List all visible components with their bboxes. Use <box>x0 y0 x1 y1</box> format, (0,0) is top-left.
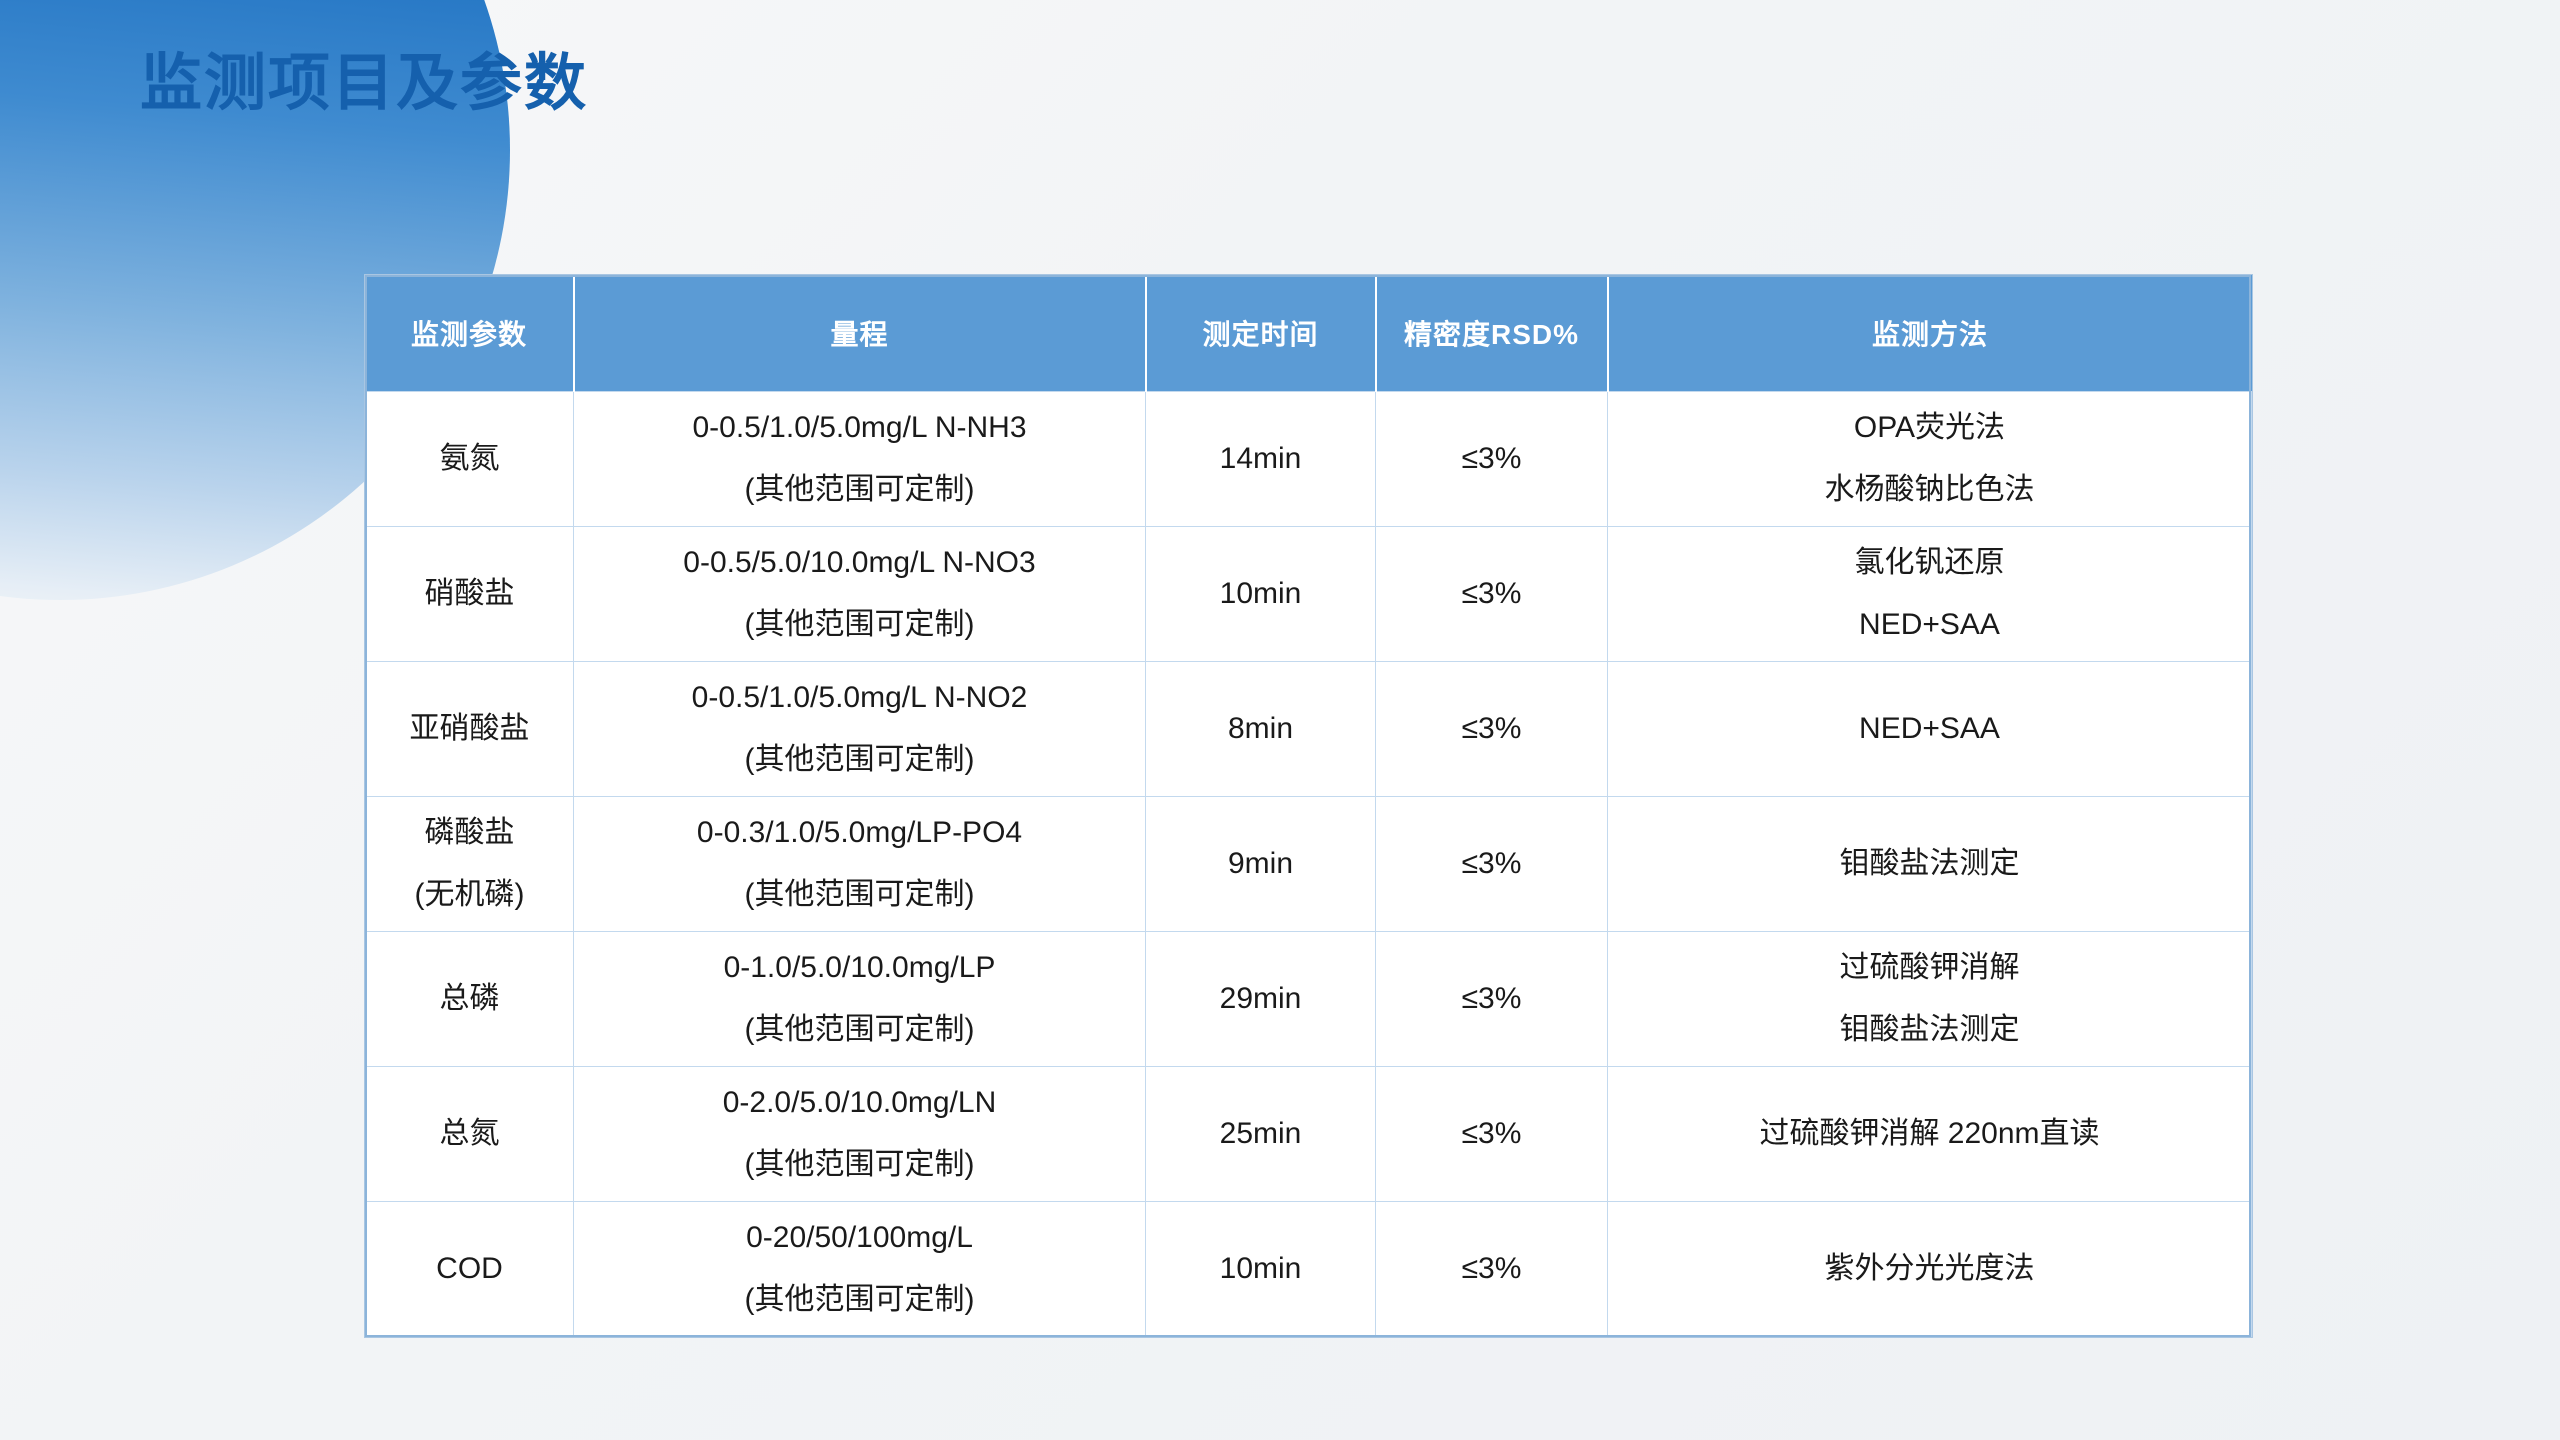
range-primary: 0-0.5/1.0/5.0mg/L N-NH3 <box>580 405 1139 452</box>
parameter-name: 总氮 <box>372 1111 567 1158</box>
cell-parameter: 总氮 <box>366 1067 574 1202</box>
table-row: 磷酸盐 (无机磷) 0-0.3/1.0/5.0mg/LP-PO4 (其他范围可定… <box>366 797 2252 932</box>
table-row: 亚硝酸盐 0-0.5/1.0/5.0mg/L N-NO2 (其他范围可定制) 8… <box>366 662 2252 797</box>
column-header-parameter: 监测参数 <box>366 275 574 392</box>
table-row: 总氮 0-2.0/5.0/10.0mg/LN (其他范围可定制) 25min ≤… <box>366 1067 2252 1202</box>
parameter-subname: (无机磷) <box>372 872 567 919</box>
cell-measure-time: 10min <box>1146 527 1376 662</box>
range-primary: 0-2.0/5.0/10.0mg/LN <box>580 1080 1139 1127</box>
monitoring-parameters-table-container: 监测参数 量程 测定时间 精密度RSD% 监测方法 氨氮 0-0.5/1.0/5… <box>365 275 2251 1337</box>
range-note: (其他范围可定制) <box>580 872 1139 919</box>
column-header-time: 测定时间 <box>1146 275 1376 392</box>
method-primary: 氯化钒还原 <box>1614 540 2245 587</box>
table-header: 监测参数 量程 测定时间 精密度RSD% 监测方法 <box>366 275 2252 392</box>
parameter-name: 总磷 <box>372 976 567 1023</box>
method-secondary: NED+SAA <box>1614 602 2245 649</box>
method-secondary: 水杨酸钠比色法 <box>1614 467 2245 514</box>
cell-method: 钼酸盐法测定 <box>1608 797 2252 932</box>
parameter-name: 亚硝酸盐 <box>372 706 567 753</box>
column-header-precision: 精密度RSD% <box>1376 275 1608 392</box>
cell-range: 0-20/50/100mg/L (其他范围可定制) <box>574 1202 1146 1337</box>
cell-parameter: COD <box>366 1202 574 1337</box>
method-primary: OPA荧光法 <box>1614 405 2245 452</box>
range-primary: 0-0.5/1.0/5.0mg/L N-NO2 <box>580 675 1139 722</box>
page-title: 监测项目及参数 <box>140 50 588 118</box>
cell-measure-time: 14min <box>1146 392 1376 527</box>
cell-measure-time: 8min <box>1146 662 1376 797</box>
range-note: (其他范围可定制) <box>580 737 1139 784</box>
monitoring-parameters-table: 监测参数 量程 测定时间 精密度RSD% 监测方法 氨氮 0-0.5/1.0/5… <box>365 275 2252 1337</box>
cell-parameter: 磷酸盐 (无机磷) <box>366 797 574 932</box>
table-row: 氨氮 0-0.5/1.0/5.0mg/L N-NH3 (其他范围可定制) 14m… <box>366 392 2252 527</box>
cell-precision-rsd: ≤3% <box>1376 1202 1608 1337</box>
parameter-name: 硝酸盐 <box>372 571 567 618</box>
range-note: (其他范围可定制) <box>580 467 1139 514</box>
cell-measure-time: 29min <box>1146 932 1376 1067</box>
range-note: (其他范围可定制) <box>580 1142 1139 1189</box>
cell-method: 过硫酸钾消解 220nm直读 <box>1608 1067 2252 1202</box>
method-primary: 过硫酸钾消解 <box>1614 945 2245 992</box>
method-primary: 钼酸盐法测定 <box>1614 841 2245 888</box>
cell-range: 0-0.3/1.0/5.0mg/LP-PO4 (其他范围可定制) <box>574 797 1146 932</box>
cell-precision-rsd: ≤3% <box>1376 662 1608 797</box>
column-header-method: 监测方法 <box>1608 275 2252 392</box>
cell-method: 过硫酸钾消解 钼酸盐法测定 <box>1608 932 2252 1067</box>
table-row: 硝酸盐 0-0.5/5.0/10.0mg/L N-NO3 (其他范围可定制) 1… <box>366 527 2252 662</box>
method-secondary: 钼酸盐法测定 <box>1614 1007 2245 1054</box>
cell-precision-rsd: ≤3% <box>1376 527 1608 662</box>
cell-method: OPA荧光法 水杨酸钠比色法 <box>1608 392 2252 527</box>
cell-range: 0-2.0/5.0/10.0mg/LN (其他范围可定制) <box>574 1067 1146 1202</box>
cell-parameter: 亚硝酸盐 <box>366 662 574 797</box>
range-note: (其他范围可定制) <box>580 1277 1139 1324</box>
cell-range: 0-0.5/1.0/5.0mg/L N-NO2 (其他范围可定制) <box>574 662 1146 797</box>
cell-precision-rsd: ≤3% <box>1376 392 1608 527</box>
table-row: 总磷 0-1.0/5.0/10.0mg/LP (其他范围可定制) 29min ≤… <box>366 932 2252 1067</box>
cell-measure-time: 10min <box>1146 1202 1376 1337</box>
cell-precision-rsd: ≤3% <box>1376 1067 1608 1202</box>
parameter-name: 氨氮 <box>372 436 567 483</box>
cell-measure-time: 9min <box>1146 797 1376 932</box>
table-body: 氨氮 0-0.5/1.0/5.0mg/L N-NH3 (其他范围可定制) 14m… <box>366 392 2252 1337</box>
range-note: (其他范围可定制) <box>580 602 1139 649</box>
cell-precision-rsd: ≤3% <box>1376 932 1608 1067</box>
column-header-range: 量程 <box>574 275 1146 392</box>
parameter-name: 磷酸盐 <box>372 810 567 857</box>
cell-range: 0-0.5/5.0/10.0mg/L N-NO3 (其他范围可定制) <box>574 527 1146 662</box>
range-primary: 0-0.5/5.0/10.0mg/L N-NO3 <box>580 540 1139 587</box>
cell-method: NED+SAA <box>1608 662 2252 797</box>
parameter-name: COD <box>372 1246 567 1293</box>
cell-parameter: 硝酸盐 <box>366 527 574 662</box>
range-primary: 0-0.3/1.0/5.0mg/LP-PO4 <box>580 810 1139 857</box>
range-note: (其他范围可定制) <box>580 1007 1139 1054</box>
method-primary: 过硫酸钾消解 220nm直读 <box>1614 1111 2245 1158</box>
cell-method: 氯化钒还原 NED+SAA <box>1608 527 2252 662</box>
method-primary: NED+SAA <box>1614 706 2245 753</box>
cell-measure-time: 25min <box>1146 1067 1376 1202</box>
cell-parameter: 总磷 <box>366 932 574 1067</box>
method-primary: 紫外分光光度法 <box>1614 1246 2245 1293</box>
cell-precision-rsd: ≤3% <box>1376 797 1608 932</box>
table-row: COD 0-20/50/100mg/L (其他范围可定制) 10min ≤3% … <box>366 1202 2252 1337</box>
cell-range: 0-0.5/1.0/5.0mg/L N-NH3 (其他范围可定制) <box>574 392 1146 527</box>
cell-method: 紫外分光光度法 <box>1608 1202 2252 1337</box>
range-primary: 0-1.0/5.0/10.0mg/LP <box>580 945 1139 992</box>
cell-parameter: 氨氮 <box>366 392 574 527</box>
cell-range: 0-1.0/5.0/10.0mg/LP (其他范围可定制) <box>574 932 1146 1067</box>
table-header-row: 监测参数 量程 测定时间 精密度RSD% 监测方法 <box>366 275 2252 392</box>
range-primary: 0-20/50/100mg/L <box>580 1215 1139 1262</box>
